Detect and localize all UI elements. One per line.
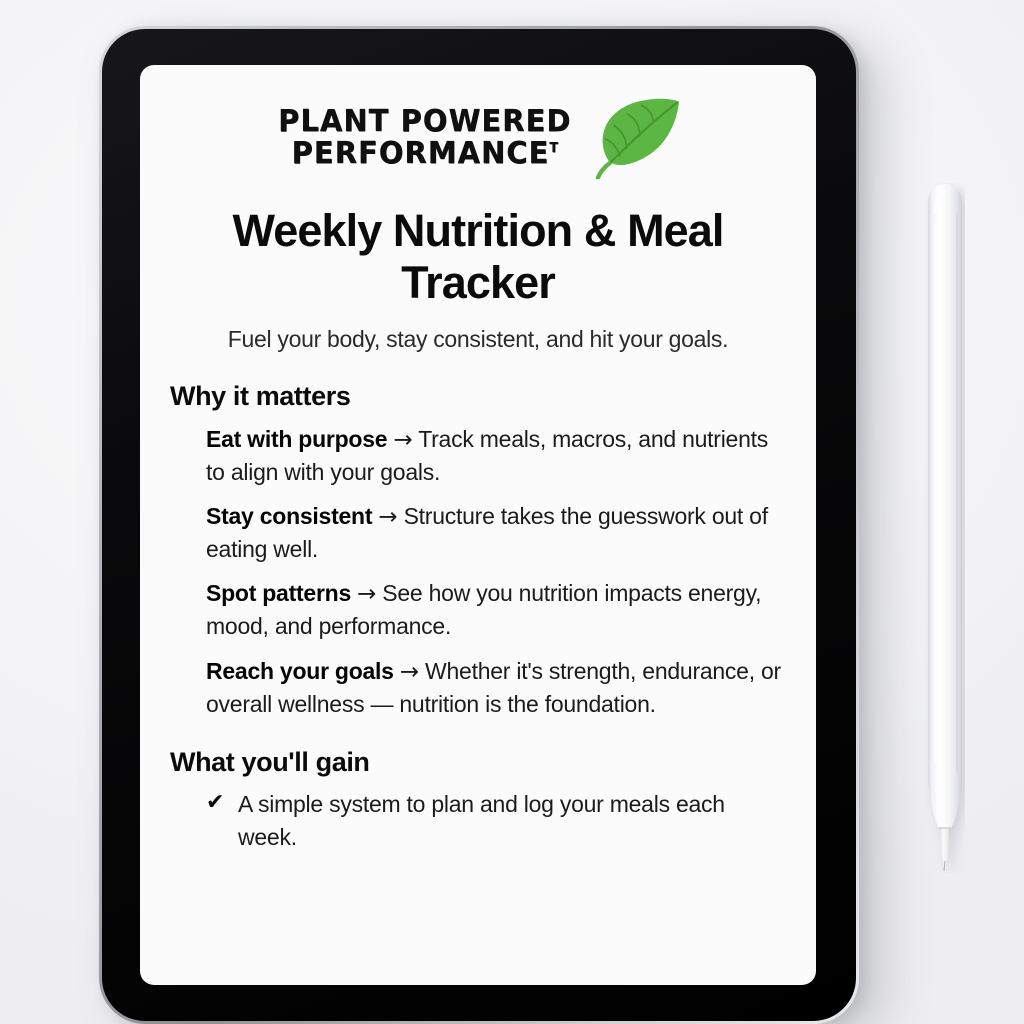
section-what-youll-gain: What you'll gain ✔A simple system to pla…: [170, 746, 786, 853]
arrow-icon: →: [400, 659, 419, 685]
brand-line-2: PERFORMANCET: [292, 138, 558, 170]
section-heading: What you'll gain: [170, 746, 786, 778]
list-item-text: A simple system to plan and log your mea…: [238, 791, 725, 849]
list-item-lead: Stay consistent: [206, 503, 372, 529]
section-why-it-matters: Why it matters Eat with purpose → Track …: [170, 380, 786, 720]
tablet-device: PLANT POWERED PERFORMANCET: [99, 26, 859, 1024]
arrow-icon: →: [357, 581, 376, 607]
list-item-lead: Eat with purpose: [206, 426, 387, 452]
list-item-lead: Reach your goals: [206, 658, 394, 684]
stylus-body: [928, 184, 962, 871]
list-item-lead: Spot patterns: [206, 580, 351, 606]
page-subtitle: Fuel your body, stay consistent, and hit…: [170, 325, 786, 354]
arrow-icon: →: [393, 427, 412, 453]
brand-line-1: PLANT POWERED: [278, 106, 571, 138]
gain-list: ✔A simple system to plan and log your me…: [170, 788, 786, 852]
page-title: Weekly Nutrition & Meal Tracker: [170, 205, 786, 309]
stylus-pen[interactable]: [925, 183, 965, 873]
page-content: PLANT POWERED PERFORMANCET: [140, 65, 816, 985]
list-item: ✔A simple system to plan and log your me…: [206, 788, 786, 852]
leaf-icon: [588, 93, 684, 179]
benefit-list: Eat with purpose → Track meals, macros, …: [170, 423, 786, 721]
brand-logo: PLANT POWERED PERFORMANCET: [170, 97, 786, 179]
brand-wordmark: PLANT POWERED PERFORMANCET: [272, 106, 578, 170]
arrow-icon: →: [378, 504, 397, 530]
list-item: Eat with purpose → Track meals, macros, …: [206, 423, 786, 488]
scene: PLANT POWERED PERFORMANCET: [0, 0, 1024, 1024]
tablet-screen[interactable]: PLANT POWERED PERFORMANCET: [140, 65, 816, 985]
list-item: Spot patterns → See how you nutrition im…: [206, 577, 786, 642]
tablet-bezel: PLANT POWERED PERFORMANCET: [102, 29, 856, 1021]
check-icon: ✔: [206, 788, 224, 819]
trademark-mark: T: [550, 141, 559, 156]
section-heading: Why it matters: [170, 380, 786, 412]
brand-line-2-text: PERFORMANCE: [292, 136, 550, 171]
list-item: Stay consistent → Structure takes the gu…: [206, 500, 786, 565]
list-item: Reach your goals → Whether it's strength…: [206, 655, 786, 720]
